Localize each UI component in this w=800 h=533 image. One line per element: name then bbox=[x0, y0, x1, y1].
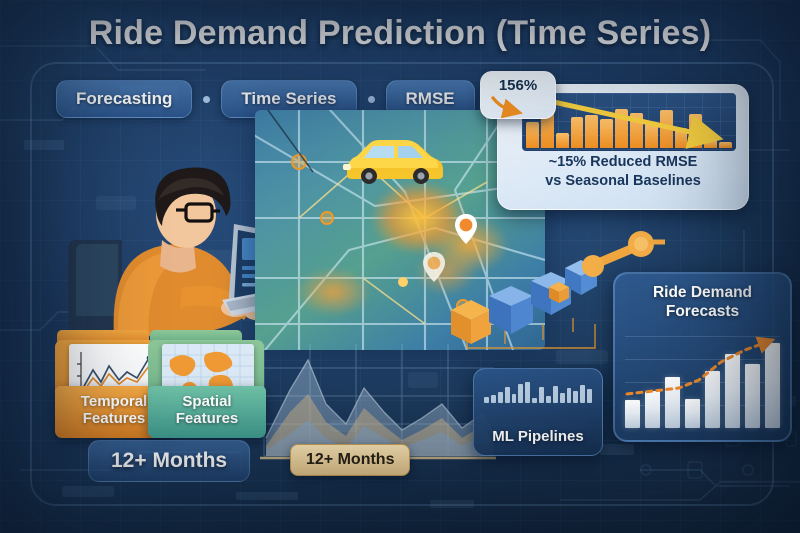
ride-demand-forecast-panel: Ride Demand Forecasts bbox=[613, 272, 792, 442]
chart-bar bbox=[580, 385, 585, 403]
tag-separator-dot bbox=[368, 96, 375, 103]
folder-label: Spatial Features bbox=[148, 393, 266, 428]
chart-bar bbox=[539, 387, 544, 403]
chart-bar bbox=[484, 397, 489, 403]
folder-front: Spatial Features bbox=[148, 386, 266, 438]
percent-badge: 156% bbox=[480, 71, 556, 119]
location-pin-icon bbox=[423, 252, 445, 282]
chart-bar bbox=[532, 398, 537, 403]
chart-bar bbox=[553, 386, 558, 403]
chart-bar bbox=[491, 395, 496, 403]
months-range-badge: 12+ Months bbox=[290, 444, 410, 476]
rmse-caption: ~15% Reduced RMSE vs Seasonal Baselines bbox=[498, 153, 748, 190]
chart-bar bbox=[587, 389, 592, 403]
chart-bar bbox=[573, 391, 578, 403]
ml-pipelines-card[interactable]: ML Pipelines bbox=[473, 368, 603, 456]
chart-bar bbox=[567, 388, 572, 403]
ml-mini-bar-chart bbox=[484, 377, 592, 403]
taxi-car-icon bbox=[341, 132, 445, 186]
page-title: Ride Demand Prediction (Time Series) bbox=[0, 14, 800, 53]
forecast-bar-chart bbox=[625, 336, 780, 428]
rising-dashed-arrow-icon bbox=[625, 336, 780, 428]
tag-forecasting[interactable]: Forecasting bbox=[56, 80, 192, 118]
chart-bar bbox=[546, 396, 551, 403]
tag-separator-dot bbox=[203, 96, 210, 103]
months-range-pill: 12+ Months bbox=[88, 440, 250, 482]
ml-pipelines-label: ML Pipelines bbox=[474, 428, 602, 445]
chart-bar bbox=[498, 392, 503, 403]
rmse-result-panel: ~15% Reduced RMSE vs Seasonal Baselines … bbox=[497, 84, 749, 210]
small-down-arrow-icon bbox=[481, 72, 555, 118]
chart-bar bbox=[518, 384, 523, 403]
infographic-canvas: Ride Demand Prediction (Time Series) For… bbox=[0, 0, 800, 533]
folder-spatial-features[interactable]: Spatial Features bbox=[148, 330, 266, 438]
chart-bar bbox=[560, 393, 565, 403]
forecast-panel-title: Ride Demand Forecasts bbox=[615, 284, 790, 321]
chart-bar bbox=[512, 394, 517, 403]
chart-bar bbox=[505, 387, 510, 403]
chart-bar bbox=[525, 382, 530, 403]
